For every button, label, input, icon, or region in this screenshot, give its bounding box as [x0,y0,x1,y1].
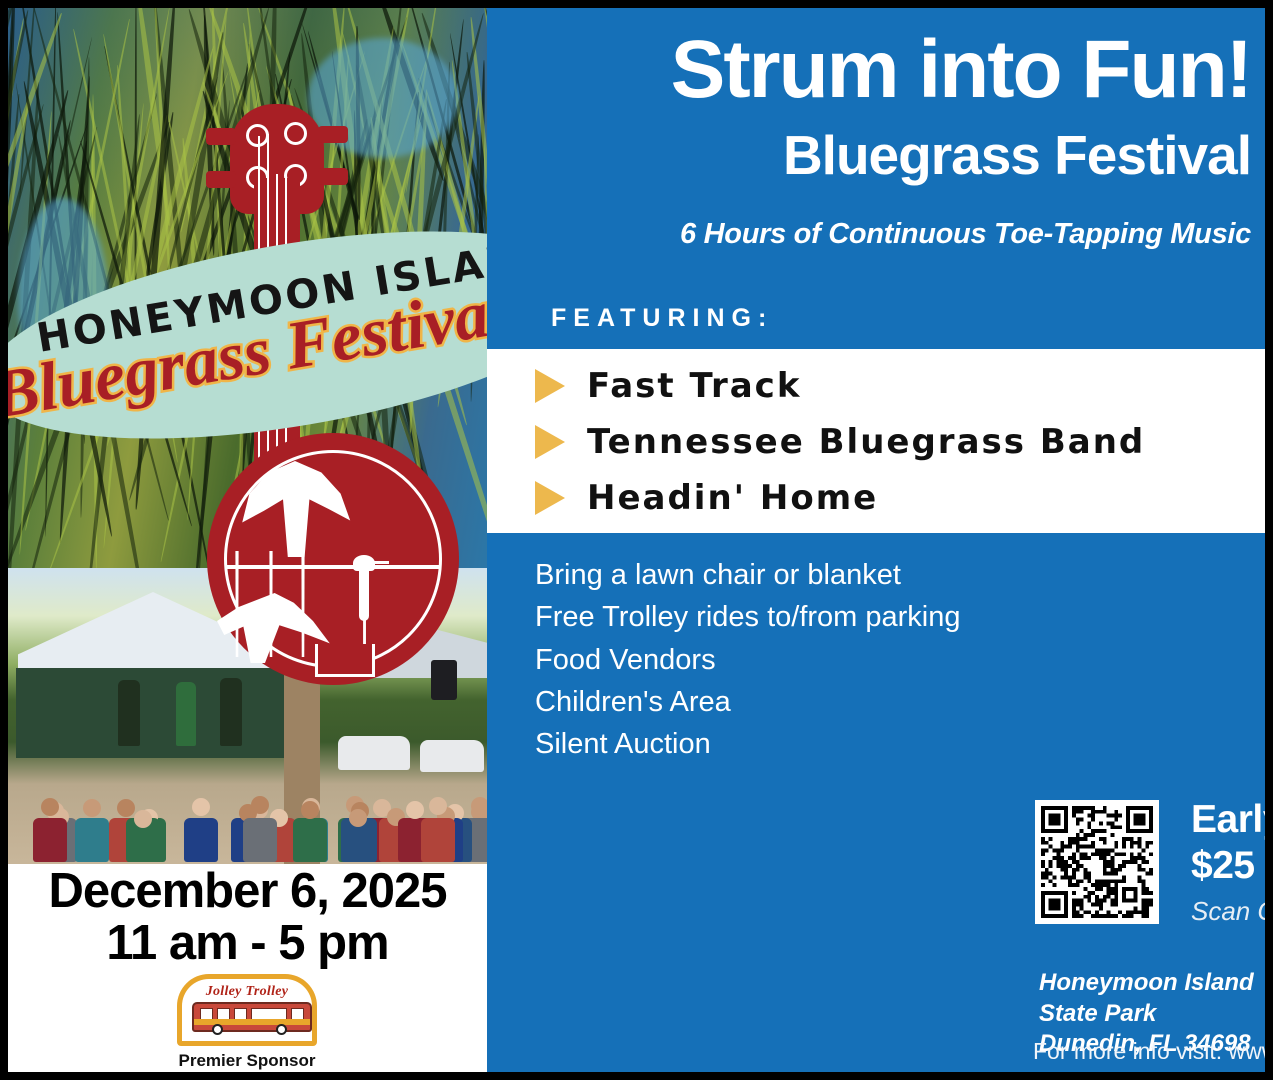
festival-poster: December 6, 2025 11 am - 5 pm Jolley Tro… [0,0,1273,1080]
band-lineup-item: Fast Track [535,366,801,406]
band-lineup-band: Fast Track Tennessee Bluegrass Band Head… [487,349,1265,533]
band-name: Fast Track [587,366,801,406]
jolley-trolley-logo: Jolley Trolley [177,974,317,1046]
amenity-item: Food Vendors [535,639,960,681]
early-bird-price: Early Bird Tickets $18 [1191,798,1265,842]
poster-subtitle: Bluegrass Festival [487,128,1251,183]
event-time: 11 am - 5 pm [8,918,487,970]
band-lineup-item: Tennessee Bluegrass Band [535,422,1145,462]
performer [220,678,242,746]
banjo-bridge [315,644,375,677]
event-date-block: December 6, 2025 11 am - 5 pm [8,866,487,970]
premier-sponsor-block: Jolley Trolley Premier Sponsor [163,974,331,1071]
banjo-body [207,433,459,685]
poster-title: Strum into Fun! [487,30,1251,110]
tuning-peg [318,168,348,185]
amenity-item: Bring a lawn chair or blanket [535,554,960,596]
amenity-item: Free Trolley rides to/from parking [535,596,960,638]
band-name: Headin' Home [587,478,878,518]
tuning-peg [206,171,236,188]
amenities-list: Bring a lawn chair or blanket Free Troll… [535,554,960,766]
triangle-bullet-icon [535,481,565,515]
seated-crowd [8,758,487,868]
tuner-ring [284,122,307,145]
performer [176,682,196,746]
band-name: Tennessee Bluegrass Band [587,422,1145,462]
heron-head [353,555,375,571]
featuring-label: FEATURING: [551,304,773,333]
sponsor-name: Jolley Trolley [182,979,312,999]
pa-speaker [431,660,457,700]
more-info-link[interactable]: For more info visit: www.friendsoftheisl… [1033,1038,1265,1065]
tuning-peg [206,128,236,145]
heron-beak [373,561,389,564]
venue-name: Honeymoon Island State Park [1039,968,1265,1029]
triangle-bullet-icon [535,369,565,403]
event-date: December 6, 2025 [8,866,487,918]
banjo-horizon-line [227,565,439,569]
gate-price: $25 at Gate [1191,844,1265,888]
triangle-bullet-icon [535,425,565,459]
sponsor-label: Premier Sponsor [163,1051,331,1071]
tuning-peg [318,126,348,143]
amenity-item: Silent Auction [535,723,960,765]
band-lineup-item: Headin' Home [535,478,878,518]
ticket-qr-code[interactable] [1035,800,1159,924]
scan-qr-note: Scan QR Code for tickets [1191,896,1265,927]
right-info-panel: Strum into Fun! Bluegrass Festival 6 Hou… [487,8,1265,1072]
poster-tagline: 6 Hours of Continuous Toe-Tapping Music [487,218,1251,251]
left-photo-panel: December 6, 2025 11 am - 5 pm Jolley Tro… [8,8,487,1072]
trolley-car-icon [192,1002,312,1032]
performer [118,680,140,746]
stage-backdrop [16,668,288,758]
amenity-item: Children's Area [535,681,960,723]
